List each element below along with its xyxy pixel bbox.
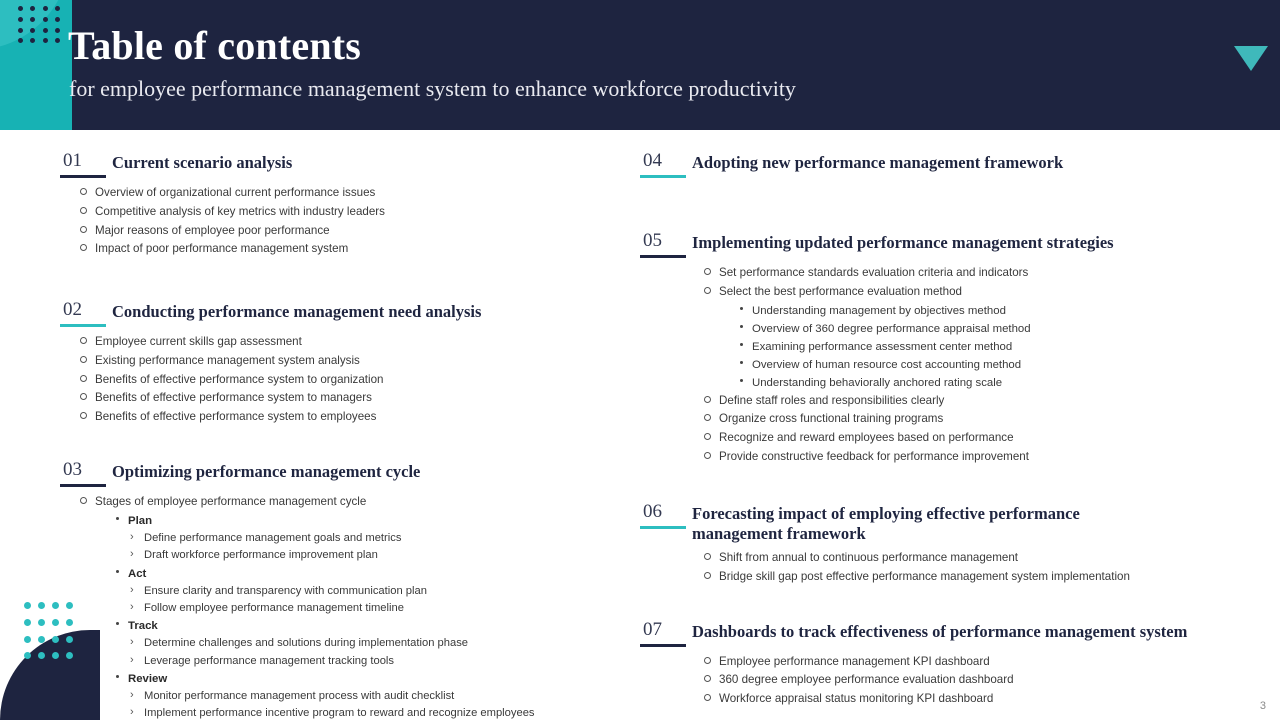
circle-bullet-icon <box>704 553 711 560</box>
circle-bullet-icon <box>704 396 711 403</box>
list-item-label: Benefits of effective performance system… <box>95 373 384 386</box>
section-rule <box>60 484 106 487</box>
section-number: 01 <box>60 150 85 174</box>
slide-header: Table of contents for employee performan… <box>0 0 1280 130</box>
list-item-label: Select the best performance evaluation m… <box>719 285 962 298</box>
dot-bullet-icon <box>740 307 743 310</box>
list-item-label: Monitor performance management process w… <box>144 690 454 702</box>
dot-bullet-icon <box>740 361 743 364</box>
list-item[interactable]: Employee performance management KPI dash… <box>702 653 1240 672</box>
page-title: Table of contents <box>68 22 361 69</box>
list-item[interactable]: ›Ensure clarity and transparency with co… <box>128 583 620 600</box>
list-item-label: Employee current skills gap assessment <box>95 335 302 348</box>
list-item-label: Examining performance assessment center … <box>752 341 1012 353</box>
list-item-label: Leverage performance management tracking… <box>144 655 394 667</box>
list-item[interactable]: ›Follow employee performance management … <box>128 600 620 617</box>
list-item-label: Recognize and reward employees based on … <box>719 431 1014 444</box>
list-item-label: Implement performance incentive program … <box>144 707 535 719</box>
list-item[interactable]: Impact of poor performance management sy… <box>78 240 620 259</box>
list-item[interactable]: Set performance standards evaluation cri… <box>702 264 1240 283</box>
list-item-label: Determine challenges and solutions durin… <box>144 637 468 649</box>
list-item[interactable]: Select the best performance evaluation m… <box>702 283 1240 392</box>
sub-sub-item-list: ›Monitor performance management process … <box>128 688 620 723</box>
header-dot-grid-icon <box>18 6 64 46</box>
section-title: Conducting performance management need a… <box>112 299 481 323</box>
list-item[interactable]: Competitive analysis of key metrics with… <box>78 203 620 222</box>
list-item[interactable]: ›Implement performance incentive program… <box>128 705 620 722</box>
circle-bullet-icon <box>704 414 711 421</box>
list-item[interactable]: Define staff roles and responsibilities … <box>702 392 1240 411</box>
list-item[interactable]: Benefits of effective performance system… <box>78 408 620 427</box>
section-number: 05 <box>640 230 665 254</box>
list-item-label: Provide constructive feedback for perfor… <box>719 450 1029 463</box>
list-item[interactable]: Benefits of effective performance system… <box>78 389 620 408</box>
circle-bullet-icon <box>80 412 87 419</box>
section-title: Current scenario analysis <box>112 150 292 174</box>
list-item-label: Understanding behaviorally anchored rati… <box>752 377 1002 389</box>
dot-bullet-icon <box>116 517 119 520</box>
list-item-label: Understanding management by objectives m… <box>752 305 1006 317</box>
circle-bullet-icon <box>704 268 711 275</box>
circle-bullet-icon <box>80 207 87 214</box>
list-item[interactable]: Understanding behaviorally anchored rati… <box>737 374 1240 392</box>
list-item-label: Overview of organizational current perfo… <box>95 186 375 199</box>
list-item[interactable]: Workforce appraisal status monitoring KP… <box>702 690 1240 709</box>
triangle-down-icon <box>1234 46 1268 71</box>
list-item[interactable]: Employee current skills gap assessment <box>78 333 620 352</box>
chevron-right-icon: › <box>130 652 134 669</box>
list-item[interactable]: Review ›Monitor performance management p… <box>113 670 620 723</box>
list-item[interactable]: Provide constructive feedback for perfor… <box>702 448 1240 467</box>
circle-bullet-icon <box>704 433 711 440</box>
page-number: 3 <box>1260 700 1266 712</box>
list-item-label: 360 degree employee performance evaluati… <box>719 673 1014 686</box>
circle-bullet-icon <box>704 572 711 579</box>
chevron-right-icon: › <box>130 704 134 721</box>
toc-section-05[interactable]: 05 Implementing updated performance mana… <box>640 230 1240 467</box>
circle-bullet-icon <box>704 657 711 664</box>
dot-bullet-icon <box>740 325 743 328</box>
list-item-label: Benefits of effective performance system… <box>95 410 376 423</box>
list-item[interactable]: Understanding management by objectives m… <box>737 302 1240 320</box>
section-rule <box>640 255 686 258</box>
circle-bullet-icon <box>80 356 87 363</box>
circle-bullet-icon <box>80 497 87 504</box>
section-title: Dashboards to track effectiveness of per… <box>692 619 1187 643</box>
list-item-label: Track <box>128 620 158 632</box>
list-item[interactable]: Major reasons of employee poor performan… <box>78 222 620 241</box>
section-rule <box>640 526 686 529</box>
circle-bullet-icon <box>80 375 87 382</box>
list-item[interactable]: Benefits of effective performance system… <box>78 371 620 390</box>
section-number-wrap: 02 <box>60 299 112 327</box>
section-number-wrap: 03 <box>60 459 112 487</box>
section-title: Optimizing performance management cycle <box>112 459 420 483</box>
list-item[interactable]: Bridge skill gap post effective performa… <box>702 568 1240 587</box>
section-title: Forecasting impact of employing effectiv… <box>692 501 1112 545</box>
list-item[interactable]: Shift from annual to continuous performa… <box>702 549 1240 568</box>
list-item[interactable]: ›Leverage performance management trackin… <box>128 653 620 670</box>
chevron-right-icon: › <box>130 687 134 704</box>
dot-bullet-icon <box>116 622 119 625</box>
list-item-label: Overview of human resource cost accounti… <box>752 359 1021 371</box>
section-rule <box>640 175 686 178</box>
chevron-right-icon: › <box>130 529 134 546</box>
dot-bullet-icon <box>740 343 743 346</box>
section-item-list: Shift from annual to continuous performa… <box>702 549 1240 587</box>
chevron-right-icon: › <box>130 582 134 599</box>
circle-bullet-icon <box>80 393 87 400</box>
circle-bullet-icon <box>80 188 87 195</box>
toc-section-02[interactable]: 02 Conducting performance management nee… <box>60 299 620 427</box>
list-item[interactable]: Plan ›Define performance management goal… <box>113 512 620 565</box>
list-item-label: Employee performance management KPI dash… <box>719 655 990 668</box>
list-item[interactable]: ›Define performance management goals and… <box>128 530 620 547</box>
list-item[interactable]: Overview of human resource cost accounti… <box>737 356 1240 374</box>
circle-bullet-icon <box>80 244 87 251</box>
section-number-wrap: 01 <box>60 150 112 178</box>
list-item-label: Follow employee performance management t… <box>144 602 404 614</box>
chevron-right-icon: › <box>130 546 134 563</box>
list-item[interactable]: ›Determine challenges and solutions duri… <box>128 635 620 652</box>
list-item-label: Workforce appraisal status monitoring KP… <box>719 692 993 705</box>
section-number: 03 <box>60 459 85 483</box>
list-item-label: Organize cross functional training progr… <box>719 412 943 425</box>
section-rule <box>60 324 106 327</box>
list-item-label: Review <box>128 673 167 685</box>
list-item[interactable]: Act ›Ensure clarity and transparency wit… <box>113 565 620 618</box>
section-rule <box>60 175 106 178</box>
list-item[interactable]: Overview of 360 degree performance appra… <box>737 320 1240 338</box>
list-item[interactable]: ›Draft workforce performance improvement… <box>128 547 620 564</box>
section-item-list: Set performance standards evaluation cri… <box>702 264 1240 467</box>
sub-sub-item-list: ›Determine challenges and solutions duri… <box>128 635 620 670</box>
chevron-right-icon: › <box>130 599 134 616</box>
dot-bullet-icon <box>116 570 119 573</box>
section-number: 02 <box>60 299 85 323</box>
list-item[interactable]: Stages of employee performance managemen… <box>78 493 620 723</box>
bottom-left-dot-grid-icon <box>24 602 72 662</box>
list-item-label: Act <box>128 568 146 580</box>
list-item[interactable]: Existing performance management system a… <box>78 352 620 371</box>
section-number: 06 <box>640 501 665 525</box>
toc-section-03[interactable]: 03 Optimizing performance management cyc… <box>60 459 620 723</box>
sub-sub-item-list: ›Ensure clarity and transparency with co… <box>128 583 620 618</box>
toc-section-06[interactable]: 06 Forecasting impact of employing effec… <box>640 501 1240 587</box>
section-title: Adopting new performance management fram… <box>692 150 1063 174</box>
section-number: 07 <box>640 619 665 643</box>
toc-column-right: 04 Adopting new performance management f… <box>640 150 1240 709</box>
section-rule <box>640 644 686 647</box>
list-item-label: Bridge skill gap post effective performa… <box>719 570 1130 583</box>
sub-item-list: Plan ›Define performance management goal… <box>113 512 620 723</box>
dot-bullet-icon <box>116 675 119 678</box>
circle-bullet-icon <box>704 675 711 682</box>
toc-column-left: 01 Current scenario analysis Overview of… <box>60 150 620 723</box>
list-item-label: Major reasons of employee poor performan… <box>95 224 330 237</box>
circle-bullet-icon <box>704 452 711 459</box>
section-item-list: Employee performance management KPI dash… <box>702 653 1240 709</box>
list-item-label: Plan <box>128 515 152 527</box>
list-item-label: Shift from annual to continuous performa… <box>719 551 1018 564</box>
list-item-label: Define performance management goals and … <box>144 532 401 544</box>
list-item[interactable]: ›Monitor performance management process … <box>128 688 620 705</box>
list-item[interactable]: Track ›Determine challenges and solution… <box>113 617 620 670</box>
circle-bullet-icon <box>704 287 711 294</box>
section-number-wrap: 04 <box>640 150 692 178</box>
list-item-label: Define staff roles and responsibilities … <box>719 394 944 407</box>
list-item-label: Ensure clarity and transparency with com… <box>144 585 427 597</box>
list-item-label: Stages of employee performance managemen… <box>95 495 366 508</box>
section-number-wrap: 06 <box>640 501 692 529</box>
section-item-list: Employee current skills gap assessment E… <box>78 333 620 427</box>
list-item[interactable]: Examining performance assessment center … <box>737 338 1240 356</box>
dot-bullet-icon <box>740 379 743 382</box>
list-item-label: Benefits of effective performance system… <box>95 391 372 404</box>
chevron-right-icon: › <box>130 634 134 651</box>
section-number-wrap: 07 <box>640 619 692 647</box>
list-item[interactable]: Organize cross functional training progr… <box>702 410 1240 429</box>
list-item-label: Set performance standards evaluation cri… <box>719 266 1028 279</box>
sub-sub-item-list: ›Define performance management goals and… <box>128 530 620 565</box>
section-number-wrap: 05 <box>640 230 692 258</box>
list-item-label: Existing performance management system a… <box>95 354 360 367</box>
section-item-list: Overview of organizational current perfo… <box>78 184 620 259</box>
list-item-label: Draft workforce performance improvement … <box>144 549 378 561</box>
page-subtitle: for employee performance management syst… <box>69 76 796 102</box>
section-title: Implementing updated performance managem… <box>692 230 1114 254</box>
list-item[interactable]: Overview of organizational current perfo… <box>78 184 620 203</box>
section-number: 04 <box>640 150 665 174</box>
list-item-label: Impact of poor performance management sy… <box>95 242 348 255</box>
toc-section-01[interactable]: 01 Current scenario analysis Overview of… <box>60 150 620 259</box>
list-item-label: Overview of 360 degree performance appra… <box>752 323 1031 335</box>
list-item[interactable]: Recognize and reward employees based on … <box>702 429 1240 448</box>
circle-bullet-icon <box>704 694 711 701</box>
toc-section-04[interactable]: 04 Adopting new performance management f… <box>640 150 1240 178</box>
toc-section-07[interactable]: 07 Dashboards to track effectiveness of … <box>640 619 1240 709</box>
sub-item-list: Understanding management by objectives m… <box>737 302 1240 392</box>
circle-bullet-icon <box>80 337 87 344</box>
list-item[interactable]: 360 degree employee performance evaluati… <box>702 671 1240 690</box>
circle-bullet-icon <box>80 226 87 233</box>
section-item-list: Stages of employee performance managemen… <box>78 493 620 723</box>
list-item-label: Competitive analysis of key metrics with… <box>95 205 385 218</box>
